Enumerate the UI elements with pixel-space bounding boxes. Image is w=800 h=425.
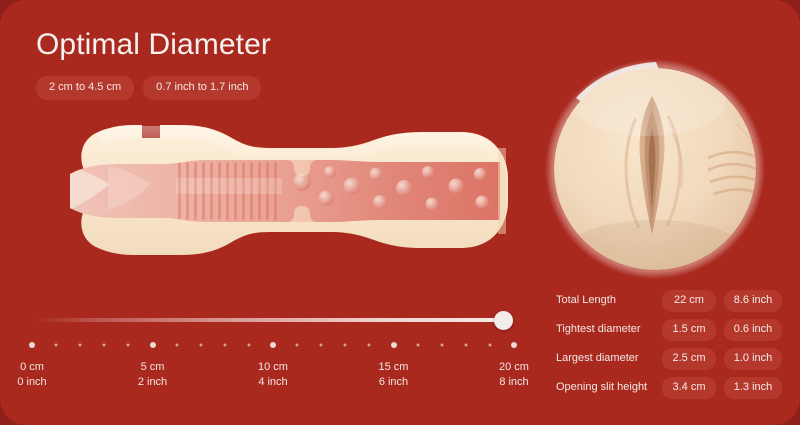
scale-label-cm: 15 cm [379, 360, 409, 375]
scale-label-cm: 0 cm [17, 360, 46, 375]
ruler-tick-minor [416, 344, 419, 347]
scale-label: 5 cm2 inch [138, 360, 167, 390]
spec-value-inch: 0.6 inch [724, 319, 782, 341]
spec-label: Tightest diameter [556, 323, 662, 336]
badge-diameter-cm: 2 cm to 4.5 cm [36, 76, 134, 100]
scale-label: 15 cm6 inch [379, 360, 409, 390]
ruler-tick-minor [247, 344, 250, 347]
header: Optimal Diameter 2 cm to 4.5 cm 0.7 inch… [36, 26, 516, 100]
ruler-tick-major [511, 342, 517, 348]
scale-label: 0 cm0 inch [17, 360, 46, 390]
ruler-tick-minor [55, 344, 58, 347]
scale-label-cm: 20 cm [499, 360, 529, 375]
scale-label-inch: 8 inch [499, 375, 529, 390]
ruler-scale-labels: 0 cm0 inch5 cm2 inch10 cm4 inch15 cm6 in… [32, 360, 514, 394]
detail-photo [540, 58, 770, 280]
ruler-tick-major [270, 342, 276, 348]
ruler-tick-minor [488, 344, 491, 347]
product-spec-card: Optimal Diameter 2 cm to 4.5 cm 0.7 inch… [0, 0, 800, 425]
spec-label: Opening slit height [556, 381, 662, 394]
scale-label: 20 cm8 inch [499, 360, 529, 390]
scale-label-cm: 10 cm [258, 360, 288, 375]
spec-value-inch: 8.6 inch [724, 290, 782, 312]
ruler-slider[interactable]: 0 cm0 inch5 cm2 inch10 cm4 inch15 cm6 in… [32, 304, 524, 396]
scale-label: 10 cm4 inch [258, 360, 288, 390]
spec-value-cm: 1.5 cm [662, 319, 716, 341]
scale-label-inch: 2 inch [138, 375, 167, 390]
spec-value-cm: 3.4 cm [662, 377, 716, 399]
slider-knob[interactable] [494, 311, 513, 330]
ruler-tick-major [391, 342, 397, 348]
ruler-tick-minor [199, 344, 202, 347]
ruler-tick-row [32, 340, 514, 350]
ruler-tick-minor [103, 344, 106, 347]
badge-diameter-inch: 0.7 inch to 1.7 inch [143, 76, 261, 100]
page-title: Optimal Diameter [36, 26, 516, 64]
slider-track[interactable] [32, 318, 504, 322]
ruler-tick-minor [344, 344, 347, 347]
product-cutaway-illustration [30, 104, 530, 276]
spec-row: Opening slit height3.4 cm1.3 inch [556, 375, 782, 400]
scale-label-inch: 0 inch [17, 375, 46, 390]
ruler-tick-major [29, 342, 35, 348]
spec-label: Largest diameter [556, 352, 662, 365]
scale-label-inch: 6 inch [379, 375, 409, 390]
spec-label: Total Length [556, 294, 662, 307]
ruler-tick-minor [440, 344, 443, 347]
ruler-tick-minor [320, 344, 323, 347]
ruler-tick-minor [223, 344, 226, 347]
illustration-cap [498, 148, 506, 234]
scale-label-cm: 5 cm [138, 360, 167, 375]
spec-row: Total Length22 cm8.6 inch [556, 288, 782, 313]
spec-value-cm: 2.5 cm [662, 348, 716, 370]
specification-table: Total Length22 cm8.6 inchTightest diamet… [556, 288, 782, 400]
ruler-tick-minor [296, 344, 299, 347]
ruler-tick-minor [79, 344, 82, 347]
spec-row: Largest diameter2.5 cm1.0 inch [556, 346, 782, 371]
spec-value-inch: 1.3 inch [724, 377, 782, 399]
ruler-tick-major [150, 342, 156, 348]
spec-value-inch: 1.0 inch [724, 348, 782, 370]
ruler-tick-minor [127, 344, 130, 347]
ruler-tick-minor [368, 344, 371, 347]
badge-row: 2 cm to 4.5 cm 0.7 inch to 1.7 inch [36, 76, 516, 100]
illustration-canal [58, 160, 500, 222]
scale-label-inch: 4 inch [258, 375, 288, 390]
ruler-tick-minor [464, 344, 467, 347]
spec-value-cm: 22 cm [662, 290, 716, 312]
ruler-tick-minor [175, 344, 178, 347]
spec-row: Tightest diameter1.5 cm0.6 inch [556, 317, 782, 342]
